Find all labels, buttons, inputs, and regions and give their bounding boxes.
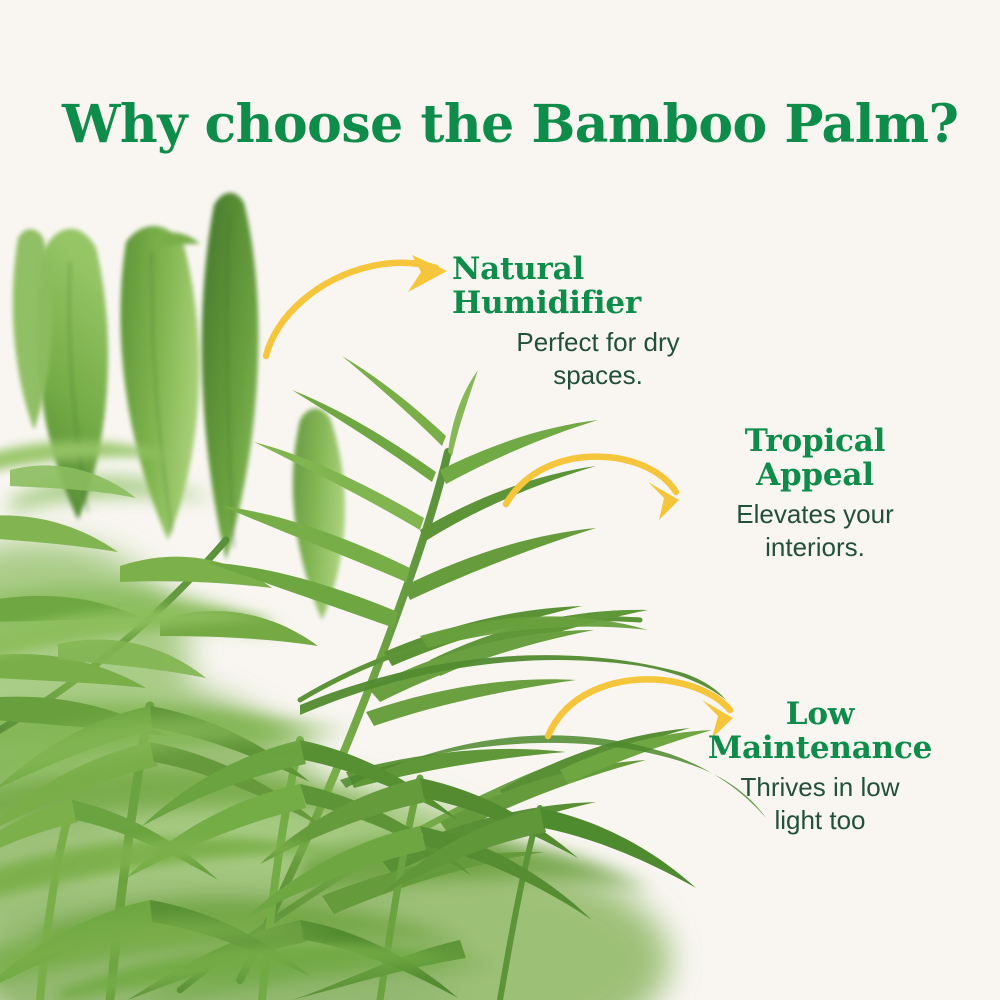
- callout-body-natural-humidifier: Perfect for dry spaces.: [452, 326, 744, 392]
- page-title: Why choose the Bamboo Palm?: [62, 96, 922, 154]
- callout-heading-low-maintenance: Low Maintenance: [690, 697, 950, 765]
- callout-body-low-maintenance: Thrives in low light too: [690, 771, 950, 837]
- callout-heading-line: Maintenance: [690, 731, 950, 765]
- callout-natural-humidifier: Natural Humidifier Perfect for dry space…: [452, 252, 782, 392]
- callout-heading-line: Tropical: [690, 424, 940, 458]
- callout-heading-tropical-appeal: Tropical Appeal: [690, 424, 940, 492]
- callout-heading-line: Appeal: [690, 458, 940, 492]
- callout-body-line: Perfect for dry: [452, 326, 744, 359]
- callout-low-maintenance: Low Maintenance Thrives in low light too: [690, 697, 950, 837]
- arrow-natural-humidifier: [266, 255, 447, 356]
- callout-heading-line: Low: [690, 697, 950, 731]
- callout-body-line: Elevates your: [690, 498, 940, 531]
- callout-heading-natural-humidifier: Natural Humidifier: [452, 252, 782, 320]
- callout-tropical-appeal: Tropical Appeal Elevates your interiors.: [690, 424, 940, 564]
- callout-body-line: interiors.: [690, 531, 940, 564]
- callout-body-line: Thrives in low: [690, 771, 950, 804]
- infographic-canvas: Why choose the Bamboo Palm? Natural Humi…: [0, 0, 1000, 1000]
- callout-body-tropical-appeal: Elevates your interiors.: [690, 498, 940, 564]
- callout-body-line: light too: [690, 804, 950, 837]
- arrow-tropical-appeal: [506, 457, 679, 520]
- callout-body-line: spaces.: [452, 359, 744, 392]
